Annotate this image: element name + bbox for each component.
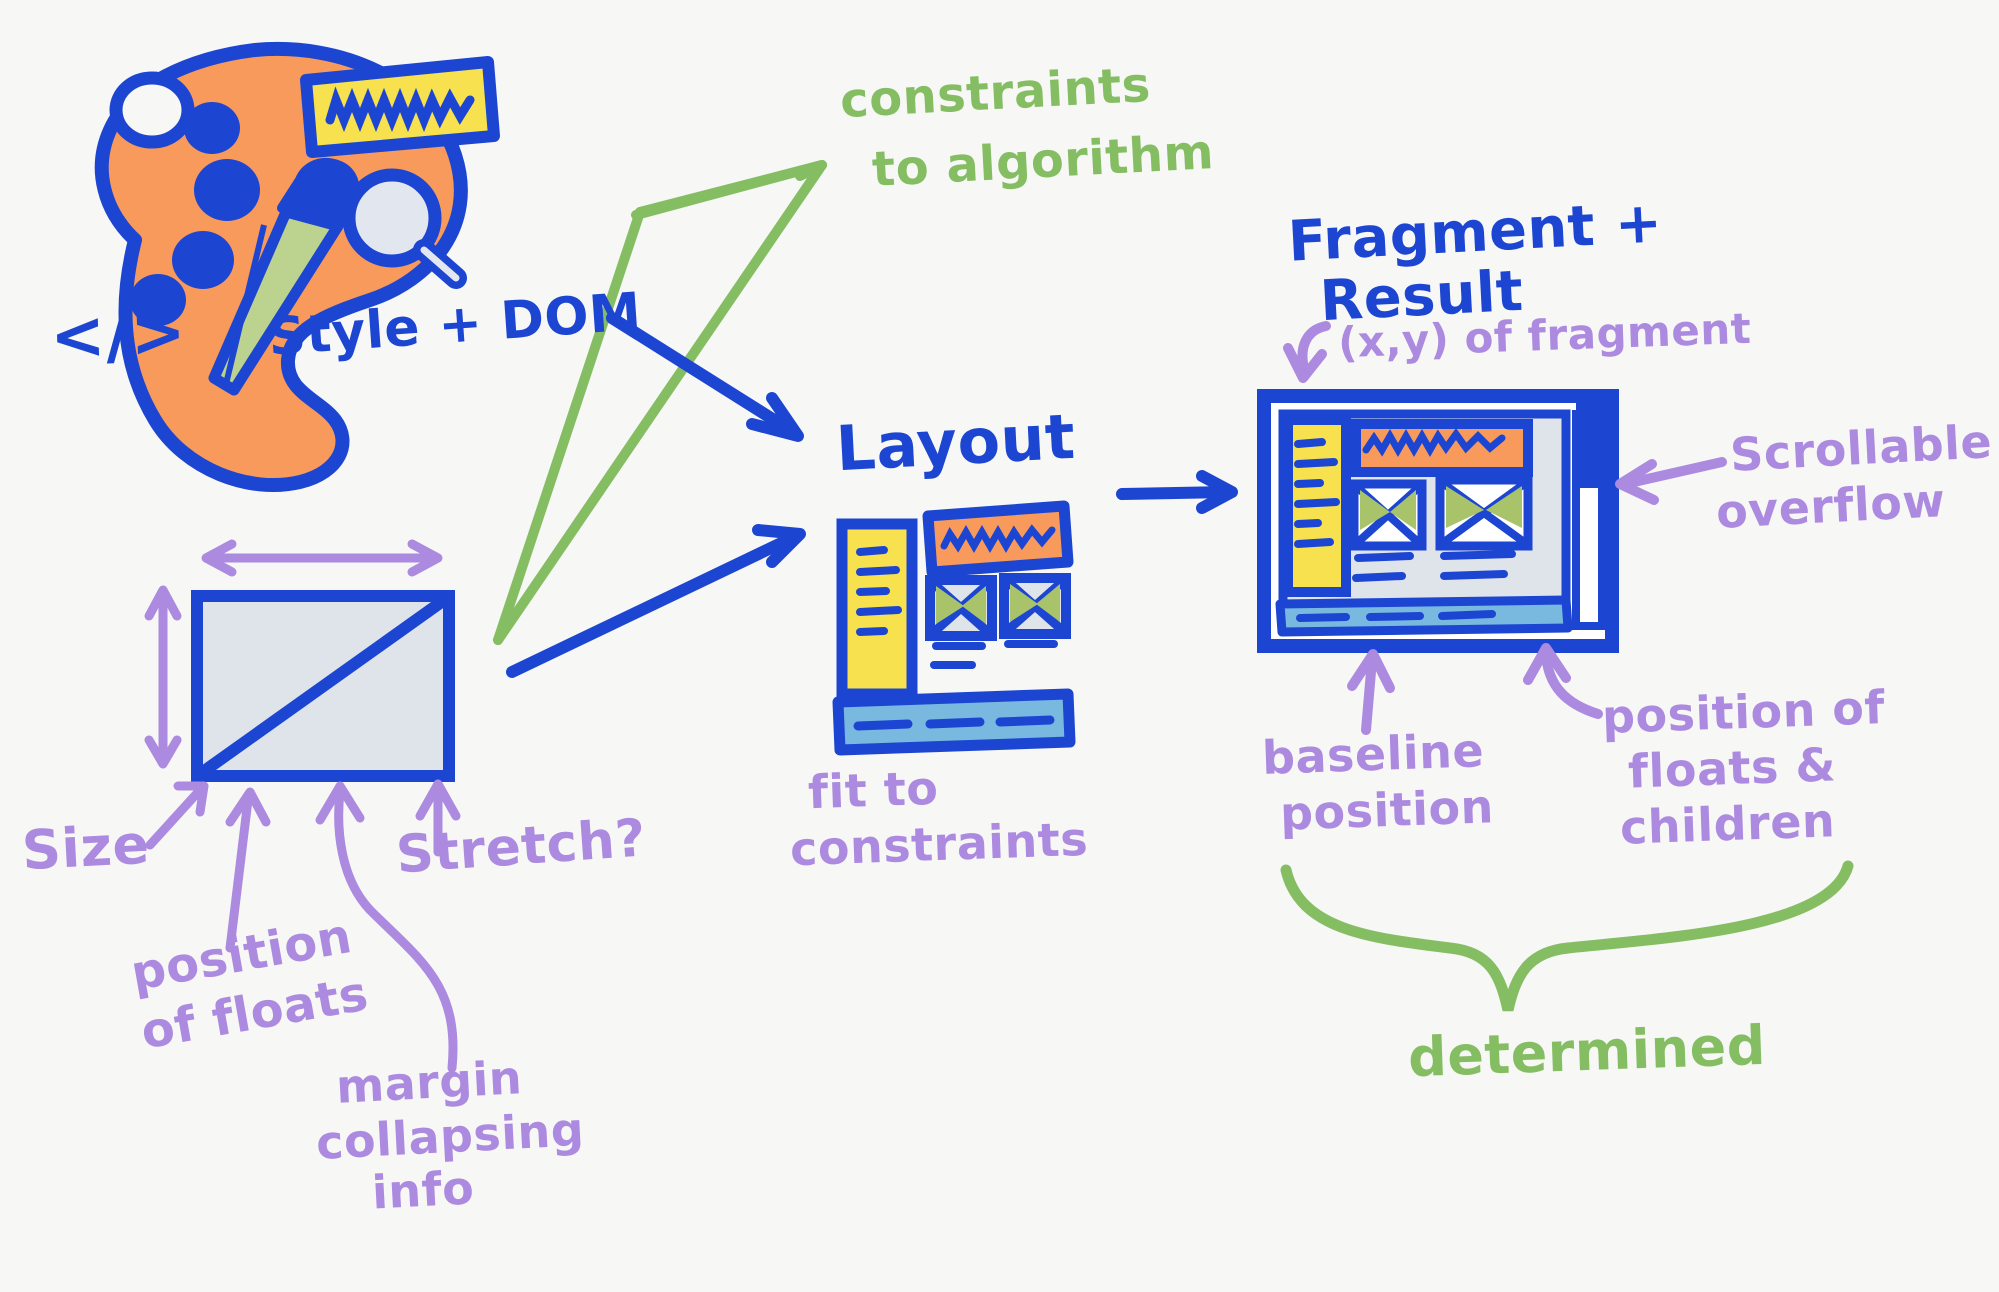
layout-to-result-arrow <box>1122 476 1232 508</box>
scrollable-label-line2: overflow <box>1715 476 1947 536</box>
baseline-label-line1: baseline <box>1261 726 1485 782</box>
fit-to-caption-line1: fit to <box>807 764 939 817</box>
floats-label-line1: position of <box>1601 683 1885 741</box>
layout-wireframe <box>838 506 1070 750</box>
fragment-coord-arrow <box>1288 326 1326 378</box>
determined-label: determined <box>1407 1018 1767 1087</box>
height-measure-arrow <box>149 590 177 764</box>
scrollable-overflow-arrow <box>1620 462 1722 500</box>
fit-to-caption-line2: constraints <box>789 815 1089 874</box>
floats-label-line2: floats & <box>1627 740 1836 796</box>
floats-children-arrow <box>1528 648 1598 714</box>
code-glyph: </> <box>49 298 188 372</box>
width-measure-arrow <box>206 544 438 572</box>
result-wireframe <box>1264 396 1612 646</box>
sketch-canvas: </> Style + DOM constraints to algorithm… <box>0 0 1999 1292</box>
text-bar-icon <box>306 62 494 152</box>
margin-collapsing-label-line3: info <box>371 1163 476 1217</box>
determined-brace <box>1286 866 1848 1010</box>
baseline-position-arrow <box>1352 654 1390 730</box>
margin-collapsing-label-line2: collapsing <box>315 1105 585 1167</box>
margin-collapsing-label-line1: margin <box>335 1053 523 1111</box>
size-label: Size <box>21 817 151 880</box>
constraint-box <box>149 544 449 776</box>
baseline-label-line2: position <box>1279 782 1494 838</box>
floats-label-line3: children <box>1619 796 1836 852</box>
size-callout-arrow <box>150 786 204 845</box>
sketch-vector-layer <box>0 0 1999 1292</box>
scrollable-label-line1: Scrollable <box>1729 417 1993 479</box>
layout-stage-title: Layout <box>834 404 1076 482</box>
